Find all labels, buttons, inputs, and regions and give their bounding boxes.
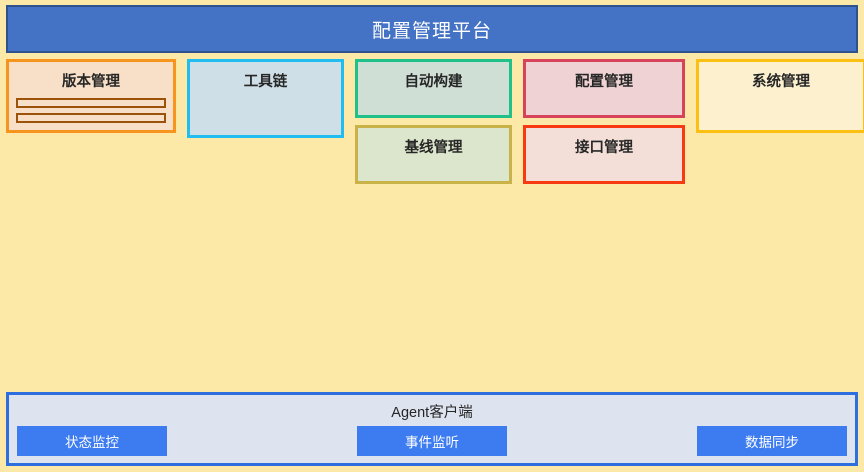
panel-version-management: 版本管理GIT版本库管理生产版本管理测试版本管理开发版本管理GIT版本库管理生产… bbox=[6, 59, 176, 133]
panel-auto-build: 自动构建日常构建编译区管理工作区恢复 bbox=[355, 59, 512, 118]
column-system: 系统管理用户管理组织机构管理静态数据管理日志管理修改密码角色权限管理 bbox=[696, 59, 864, 385]
panel-interface-management: 接口管理工具链接口管理发布接口管理外部系统接口管理 bbox=[523, 125, 685, 184]
column-version: 版本管理GIT版本库管理生产版本管理测试版本管理开发版本管理GIT版本库管理生产… bbox=[6, 59, 176, 385]
panel-title-interface-management: 接口管理 bbox=[533, 134, 675, 164]
panel-title-toolchain: 工具链 bbox=[197, 68, 334, 98]
page-title: 配置管理平台 bbox=[372, 16, 492, 43]
agent-client-buttons: 状态监控事件监听数据同步 bbox=[17, 426, 847, 456]
agent-button[interactable]: 状态监控 bbox=[17, 426, 167, 456]
subgroup-version-group-2: GIT版本库管理生产版本管理测试版本管理开发版本管理 bbox=[16, 113, 166, 123]
panel-title-baseline-management: 基线管理 bbox=[365, 134, 502, 164]
column-config: 配置管理主机信息配置产品线项目配置角色项目配置接口管理工具链接口管理发布接口管理… bbox=[523, 59, 685, 385]
panel-items-toolchain: 质量检测管理MavenAntJenkinsSonarFisNexus私服 bbox=[197, 98, 334, 128]
column-toolchain: 工具链质量检测管理MavenAntJenkinsSonarFisNexus私服 bbox=[187, 59, 344, 385]
panel-toolchain: 工具链质量检测管理MavenAntJenkinsSonarFisNexus私服 bbox=[187, 59, 344, 138]
panel-items-system-management: 用户管理组织机构管理静态数据管理日志管理修改密码角色权限管理 bbox=[706, 98, 856, 123]
column-build: 自动构建日常构建编译区管理工作区恢复基线管理基线日志管理历史基线管理基线预警 bbox=[355, 59, 512, 385]
agent-button[interactable]: 数据同步 bbox=[697, 426, 847, 456]
panel-baseline-management: 基线管理基线日志管理历史基线管理基线预警 bbox=[355, 125, 512, 184]
panel-items-config-management: 主机信息配置产品线项目配置角色项目配置 bbox=[533, 98, 675, 108]
subgroup-version-group-1: GIT版本库管理生产版本管理测试版本管理开发版本管理 bbox=[16, 98, 166, 108]
panel-items-baseline-management: 基线日志管理历史基线管理基线预警 bbox=[365, 164, 502, 174]
agent-client-title: Agent客户端 bbox=[17, 399, 847, 426]
panel-title-config-management: 配置管理 bbox=[533, 68, 675, 98]
agent-button[interactable]: 事件监听 bbox=[357, 426, 507, 456]
panel-items-auto-build: 日常构建编译区管理工作区恢复 bbox=[365, 98, 502, 108]
panel-items-interface-management: 工具链接口管理发布接口管理外部系统接口管理 bbox=[533, 164, 675, 174]
panel-title-version-management: 版本管理 bbox=[16, 68, 166, 98]
panel-title-auto-build: 自动构建 bbox=[365, 68, 502, 98]
panel-system-management: 系统管理用户管理组织机构管理静态数据管理日志管理修改密码角色权限管理 bbox=[696, 59, 864, 133]
columns-container: 版本管理GIT版本库管理生产版本管理测试版本管理开发版本管理GIT版本库管理生产… bbox=[6, 59, 858, 385]
panel-items-version-management: GIT版本库管理生产版本管理测试版本管理开发版本管理GIT版本库管理生产版本管理… bbox=[16, 98, 166, 123]
panel-config-management: 配置管理主机信息配置产品线项目配置角色项目配置 bbox=[523, 59, 685, 118]
diagram-root: 配置管理平台 版本管理GIT版本库管理生产版本管理测试版本管理开发版本管理GIT… bbox=[0, 0, 864, 472]
agent-client-bar: Agent客户端 状态监控事件监听数据同步 bbox=[6, 392, 858, 466]
panel-title-system-management: 系统管理 bbox=[706, 68, 856, 98]
platform-title-banner: 配置管理平台 bbox=[6, 5, 858, 53]
